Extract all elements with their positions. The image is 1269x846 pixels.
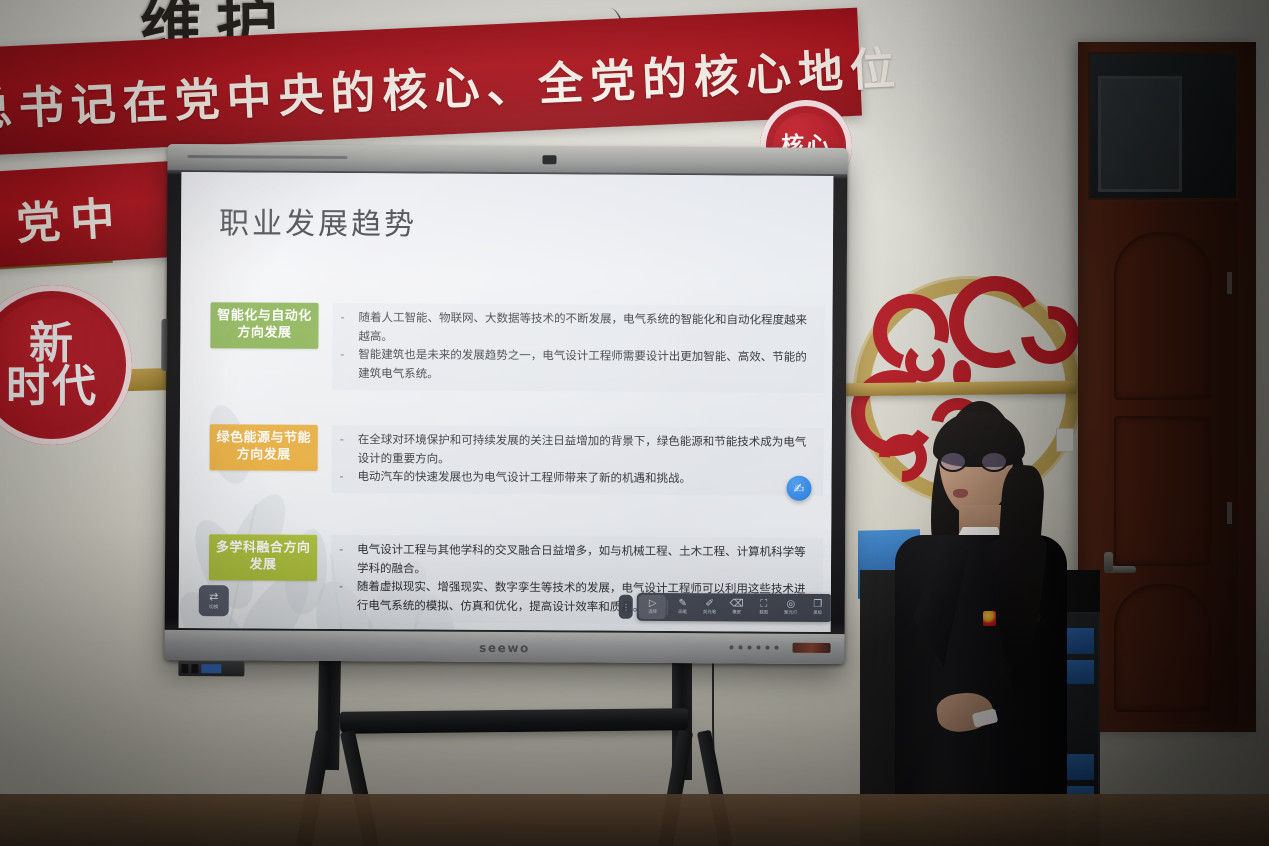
pen-tool[interactable]: ✎ 画笔 <box>669 595 696 619</box>
bullet-item: - 智能建筑也是未来的发展趋势之一，电气设计工程师需要设计出更加智能、高效、节能… <box>340 345 814 385</box>
red-banner-second-text: 党中 <box>14 182 126 252</box>
section-body-2: - 在全球对环境保护和可持续发展的关注日益增加的背景下，绿色能源和节能技术成为电… <box>331 425 823 496</box>
cursor-select-icon: ▷ <box>649 599 657 609</box>
lapel-badge-pin <box>983 611 996 626</box>
gold-shelf-bar <box>846 381 1076 396</box>
door-transom-pane <box>1098 76 1182 192</box>
section-body-1: - 随着人工智能、物联网、大数据等技术的不断发展，电气系统的智能化和自动化程度越… <box>332 303 825 393</box>
door-handle[interactable] <box>1104 566 1136 573</box>
bullet-text: 电气设计工程与其他学科的交叉融合日益增多，如与机械工程、土木工程、计算机科学等学… <box>357 540 813 580</box>
bullet-text: 在全球对环境保护和可持续发展的关注日益增加的背景下，绿色能源和节能技术成为电气设… <box>358 430 814 470</box>
section-tag-2: 绿色能源与节能方向发展 <box>210 424 318 471</box>
bullet-dash-icon: - <box>339 540 357 559</box>
section-tag-3: 多学科融合方向发展 <box>209 534 317 581</box>
panel-screen[interactable]: 职业发展趋势 智能化与自动化方向发展 - 随着人工智能、物联网、大数据等技术的不… <box>179 172 834 632</box>
panel-io-panel[interactable] <box>178 661 244 676</box>
camera-icon <box>542 155 556 164</box>
switch-source-button[interactable]: ⇄ 切换 <box>199 585 229 616</box>
presentation-ink-toolbar[interactable]: ⋮ ▷ 选择 ✎ 画笔 ✐ 荧光笔 <box>619 593 834 623</box>
bullet-text: 智能建筑也是未来的发展趋势之一，电气设计工程师需要设计出更加智能、高效、节能的建… <box>358 345 814 385</box>
cursor-select-label: 选择 <box>648 610 657 614</box>
spotlight-icon: ◎ <box>786 600 795 610</box>
glasses-bridge <box>967 459 980 461</box>
toolbar-more-button[interactable]: ⋮ <box>619 595 634 619</box>
screenshot-tool[interactable]: ⛶ 截图 <box>750 595 777 619</box>
highlighter-label: 荧光笔 <box>703 611 717 615</box>
toolbar-divider <box>667 599 668 614</box>
panel-side-button[interactable] <box>161 319 167 371</box>
bullet-dash-icon: - <box>340 345 358 364</box>
door-hinge-top <box>1227 272 1232 294</box>
bullet-dash-icon: - <box>340 308 358 327</box>
pen-assistant-icon[interactable]: ✍ <box>786 476 811 501</box>
door-panel-upper <box>1114 232 1212 400</box>
bullet-item: - 电动汽车的快速发展也为电气设计工程师带来了新的机遇和挑战。 <box>339 467 813 489</box>
presentation-slide: 职业发展趋势 智能化与自动化方向发展 - 随着人工智能、物联网、大数据等技术的不… <box>179 172 834 632</box>
slide-section-1: 智能化与自动化方向发展 - 随着人工智能、物联网、大数据等技术的不断发展，电气系… <box>210 302 825 392</box>
classroom-presentation-photo: 维护 总书记在党中央的核心、全党的核心地位 护 党中 新 时代 核心 <box>0 0 1269 846</box>
pen-icon: ✎ <box>679 599 687 609</box>
bullet-dash-icon: - <box>339 467 357 486</box>
bullet-item: - 在全球对环境保护和可持续发展的关注日益增加的背景下，绿色能源和节能技术成为电… <box>340 430 814 470</box>
switch-source-icon: ⇄ <box>209 592 218 603</box>
bullet-dash-icon: - <box>340 430 358 449</box>
glasses-lens-left <box>939 451 967 472</box>
door-panel-lower <box>1114 584 1212 712</box>
panel-bottom-bar: seewo <box>164 630 844 664</box>
spotlight-label: 聚光灯 <box>784 611 798 615</box>
door-hinge-bottom <box>1227 502 1232 524</box>
status-leds <box>730 645 779 649</box>
slide-section-2: 绿色能源与节能方向发展 - 在全球对环境保护和可持续发展的关注日益增加的背景下，… <box>209 424 823 496</box>
spotlight-tool[interactable]: ◎ 聚光灯 <box>777 596 804 620</box>
glasses-icon <box>939 451 1013 473</box>
presenter-person <box>855 395 1095 846</box>
mouth <box>953 489 968 498</box>
highlighter-tool[interactable]: ✐ 荧光笔 <box>696 595 723 619</box>
room-floor <box>0 794 1269 846</box>
stand-shelf <box>340 708 688 734</box>
bullet-item: - 随着人工智能、物联网、大数据等技术的不断发展，电气系统的智能化和自动化程度越… <box>340 308 814 348</box>
blackboard-tool[interactable]: ❐ 黑板 <box>804 596 831 620</box>
screenshot-icon: ⛶ <box>760 600 767 610</box>
brand-logo: seewo <box>479 641 530 655</box>
glasses-lens-right <box>980 451 1008 472</box>
panel-ports <box>792 643 830 653</box>
bullet-text: 电动汽车的快速发展也为电气设计工程师带来了新的机遇和挑战。 <box>357 467 813 488</box>
switch-source-label: 切换 <box>209 604 219 610</box>
bullet-item: - 电气设计工程与其他学科的交叉融合日益增多，如与机械工程、土木工程、计算机科学… <box>339 540 813 580</box>
room-door[interactable] <box>1078 42 1256 732</box>
fret-pattern-ring <box>0 290 127 440</box>
bullet-dash-icon: - <box>339 577 357 596</box>
blackboard-label: 黑板 <box>813 611 822 615</box>
door-leaf[interactable] <box>1088 202 1238 724</box>
seewo-interactive-flat-panel[interactable]: 职业发展趋势 智能化与自动化方向发展 - 随着人工智能、物联网、大数据等技术的不… <box>164 144 847 664</box>
section-tag-1: 智能化与自动化方向发展 <box>210 302 318 349</box>
eraser-tool[interactable]: ⌫ 橡皮 <box>723 595 750 619</box>
cursor-select-tool[interactable]: ▷ 选择 <box>639 595 666 619</box>
panel-top-bar <box>167 144 847 174</box>
eraser-icon: ⌫ <box>730 600 744 610</box>
pen-label: 画笔 <box>678 610 687 614</box>
page-title: 职业发展趋势 <box>219 198 417 243</box>
toolbar-tool-group[interactable]: ▷ 选择 ✎ 画笔 ✐ 荧光笔 ⌫ <box>637 593 833 622</box>
door-panel-middle <box>1114 416 1212 566</box>
bullet-text: 随着人工智能、物联网、大数据等技术的不断发展，电气系统的智能化和自动化程度越来越… <box>358 308 814 348</box>
blackboard-icon: ❐ <box>813 600 822 610</box>
highlighter-icon: ✐ <box>706 600 714 610</box>
microphone-array-icon <box>187 155 347 159</box>
screenshot-label: 截图 <box>759 611 768 615</box>
eraser-label: 橡皮 <box>732 611 741 615</box>
door-transom-window <box>1088 52 1238 200</box>
